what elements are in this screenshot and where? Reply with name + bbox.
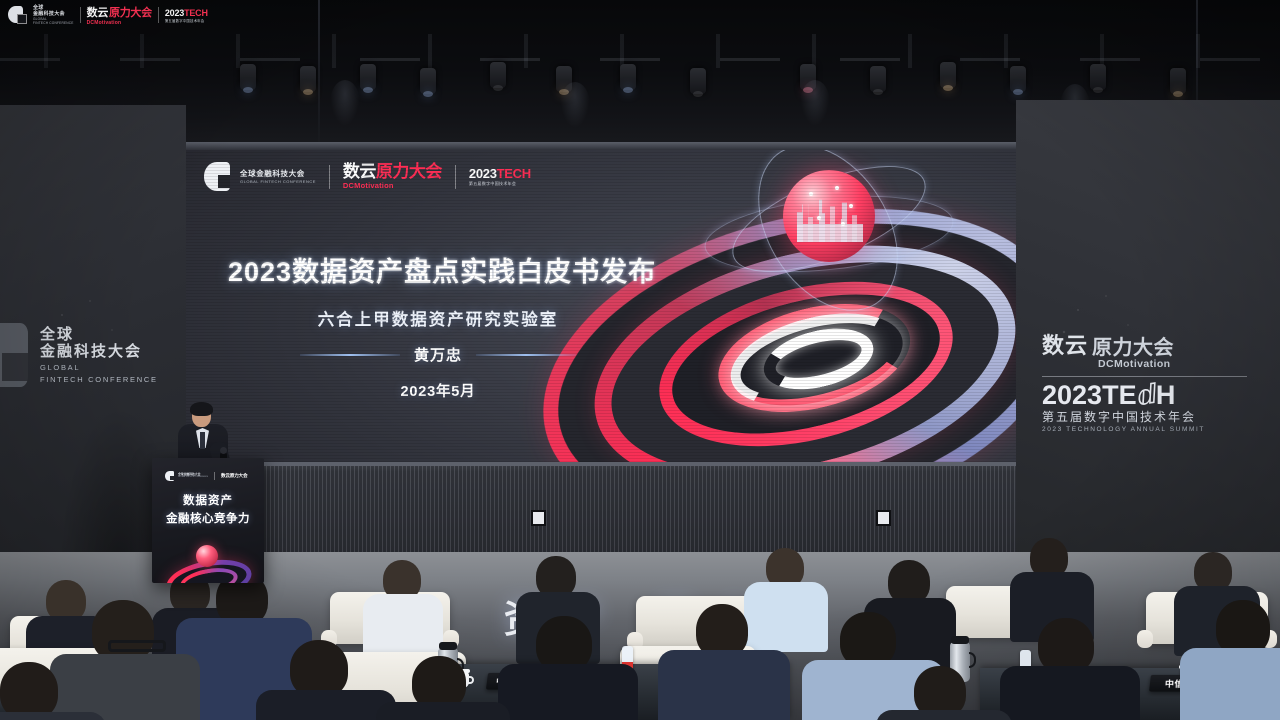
- broadcast-watermark: 全球 金融科技大会 GLOBAL FINTECH CONFERENCE 数云 原…: [0, 0, 240, 30]
- conference-stage-photo: 全球 金融科技大会 GLOBAL FINTECH CONFERENCE 数云 原…: [0, 0, 1280, 720]
- bug-divider: [80, 7, 81, 23]
- stage-apron-louvers: [186, 466, 1016, 558]
- podium-swirl-graphic: [166, 543, 252, 583]
- wall-left-cn2: 金融科技大会: [40, 343, 158, 361]
- podium-title-line1: 数据资产: [152, 492, 264, 508]
- apron-access-panel: [876, 510, 891, 526]
- wall-left-logo-text: 全球 金融科技大会 GLOBAL FINTECH CONFERENCE: [40, 326, 158, 385]
- fintech-logo-icon: [0, 323, 30, 387]
- title-rule-left: [300, 354, 400, 356]
- stage-light: [490, 62, 506, 88]
- led-header-tech: 2023TECH 第五届数字中国技术年会: [469, 167, 531, 187]
- stage-light: [1010, 66, 1026, 92]
- led-header-fintech-cn: 全球金融科技大会: [240, 169, 316, 178]
- stage-light: [620, 64, 636, 90]
- bug-dcm-en: DCMotivation: [87, 20, 152, 26]
- speaker-hair: [190, 402, 213, 416]
- led-screen: 全球金融科技大会 GLOBAL FINTECH CONFERENCE 数云原力大…: [186, 150, 1016, 462]
- presentation-subtitle: 六合上甲数据资产研究实验室: [228, 306, 648, 330]
- wall-right-tech-pre: TE: [1102, 380, 1137, 410]
- stage-light: [300, 66, 316, 92]
- led-header-dcm-cn-b: 原力大会: [376, 162, 442, 181]
- led-header-divider: [329, 165, 330, 189]
- speaker-tie: [200, 432, 205, 449]
- presentation-title: 2023数据资产盘点实践白皮书发布: [228, 250, 648, 289]
- light-glow: [330, 80, 360, 126]
- wall-right-cn-b: 原力大会: [1092, 331, 1174, 360]
- stage-light: [940, 62, 956, 88]
- stage-wall-right: 数云 原力大会 DCMotivation 2023TEⅆH 第五届数字中国技术年…: [1016, 100, 1280, 600]
- led-header-dcm: 数云原力大会 DCMotivation: [343, 163, 442, 190]
- led-header-fintech-text: 全球金融科技大会 GLOBAL FINTECH CONFERENCE: [240, 169, 316, 185]
- wall-left-en2: FINTECH CONFERENCE: [40, 375, 158, 385]
- bug-tech-block: 2023TECH 第五届数字中国技术年会: [165, 8, 208, 23]
- podium-title-block: 数据资产 金融核心竞争力: [152, 492, 264, 526]
- bug-dcm-cn-a: 数云: [87, 4, 108, 20]
- fintech-logo-icon: [165, 471, 174, 481]
- presenter-name: 黄万忠: [414, 344, 462, 365]
- led-header-logos: 全球金融科技大会 GLOBAL FINTECH CONFERENCE 数云原力大…: [204, 162, 531, 191]
- stage-light: [690, 68, 706, 94]
- lighting-truss: [0, 34, 1280, 68]
- wall-right-tech-post: H: [1156, 380, 1176, 410]
- eyeglasses-icon: [108, 640, 166, 652]
- podium-title-line2: 金融核心竞争力: [152, 510, 264, 526]
- wall-right-logo: 数云 原力大会 DCMotivation 2023TEⅆH 第五届数字中国技术年…: [1042, 328, 1272, 435]
- wall-right-cn-a: 数云: [1042, 328, 1088, 360]
- bug-tech-word: TECH: [184, 8, 208, 18]
- led-header-fintech-en: GLOBAL FINTECH CONFERENCE: [240, 179, 316, 185]
- led-header-tech-sub: 第五届数字中国技术年会: [469, 181, 531, 187]
- led-title-block: 2023数据资产盘点实践白皮书发布 六合上甲数据资产研究实验室 黄万忠 2023…: [228, 250, 648, 401]
- stage-light: [870, 66, 886, 92]
- wall-left-en1: GLOBAL: [40, 363, 158, 373]
- bug-dcm-cn-b: 原力大会: [109, 4, 152, 20]
- wall-right-divider: [1042, 376, 1247, 377]
- wall-right-en: DCMotivation: [1098, 358, 1272, 370]
- title-rule-right: [476, 354, 576, 356]
- light-glow: [560, 82, 590, 128]
- led-header-dcm-en: DCMotivation: [343, 181, 442, 190]
- stage-light: [1170, 68, 1186, 94]
- bug-fintech-en2: FINTECH CONFERENCE: [33, 21, 74, 25]
- bug-tech-sub: 第五届数字中国技术年会: [165, 18, 208, 23]
- bug-dcm-block: 数云 原力大会 DCMotivation: [87, 4, 152, 26]
- stage-apron: [186, 462, 1016, 558]
- podium-logo-strip: 全球金融科技大会 GLOBAL FINTECH CONFERENCE 数云原力大…: [165, 471, 247, 481]
- podium-dcm-logo: 数云原力大会: [221, 473, 247, 479]
- light-glow: [800, 80, 830, 126]
- wall-left-cn1: 全球: [40, 326, 158, 343]
- wall-right-cn-sub: 第五届数字中国技术年会: [1042, 409, 1272, 425]
- bug-fintech-text: 全球 金融科技大会 GLOBAL FINTECH CONFERENCE: [33, 5, 74, 25]
- wall-left-logo: 全球 金融科技大会 GLOBAL FINTECH CONFERENCE: [0, 323, 158, 387]
- led-header-divider-2: [455, 165, 456, 189]
- stage-light: [1090, 64, 1106, 90]
- stage-light: [360, 64, 376, 90]
- led-header-dcm-cn-a: 数云: [343, 162, 376, 181]
- podium-logo-en: GLOBAL FINTECH CONFERENCE: [178, 476, 208, 479]
- bug-tech-year: 2023: [165, 8, 184, 18]
- led-header-tech-year: 2023: [469, 166, 497, 181]
- bug-divider-2: [158, 7, 159, 23]
- fintech-logo-icon: [8, 6, 27, 25]
- led-header-tech-word: TECH: [497, 166, 531, 181]
- light-beam: [318, 0, 320, 150]
- podium-lectern: 全球金融科技大会 GLOBAL FINTECH CONFERENCE 数云原力大…: [152, 458, 264, 583]
- fintech-logo-icon: [204, 162, 231, 191]
- apron-access-panel: [531, 510, 546, 526]
- lighting-truss-secondary: [0, 58, 1280, 61]
- wall-right-year: 2023: [1042, 380, 1102, 410]
- presentation-date: 2023年5月: [228, 380, 648, 401]
- podium-logo-divider: [214, 472, 215, 480]
- stage-light: [240, 64, 256, 90]
- stage-light: [420, 68, 436, 94]
- podium-sphere-icon: [196, 545, 218, 567]
- wall-right-en-sub: 2023 TECHNOLOGY ANNUAL SUMMIT: [1042, 425, 1272, 435]
